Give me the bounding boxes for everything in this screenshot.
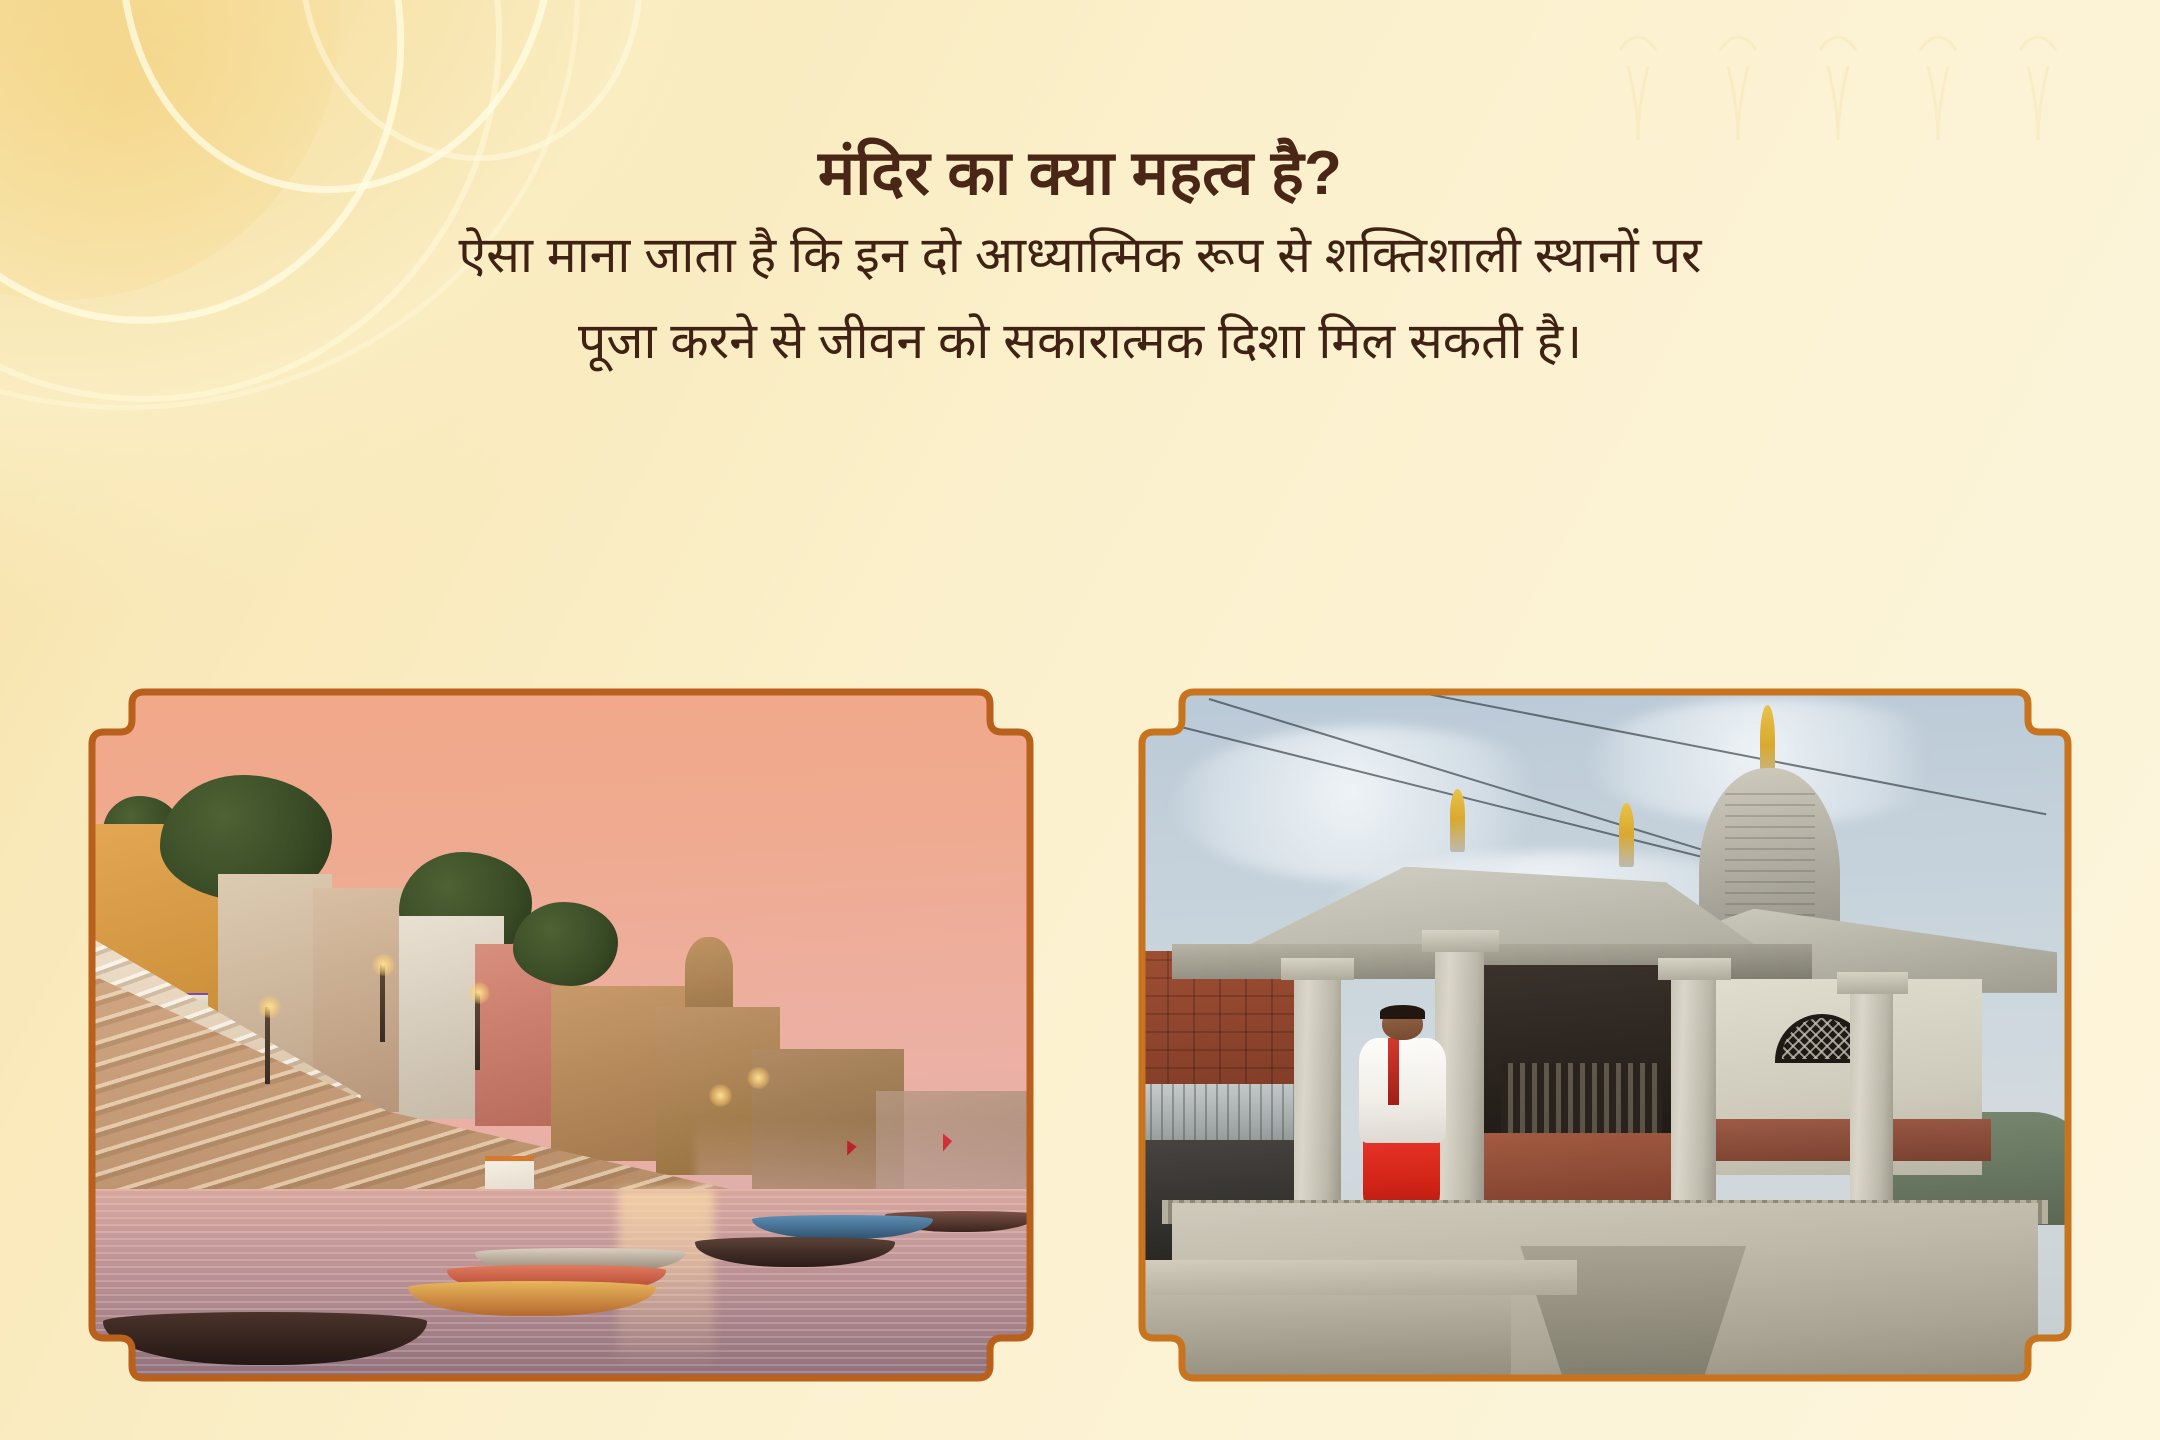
photo-frame-left bbox=[84, 684, 1038, 1386]
stone-temple-photo[interactable] bbox=[1134, 684, 2076, 1386]
poster-canvas: मंदिर का क्या महत्व है? ऐसा माना जाता है… bbox=[0, 0, 2160, 1440]
varanasi-ghats-photo[interactable] bbox=[84, 684, 1038, 1386]
ghat-photo-content bbox=[84, 684, 1038, 1386]
temple-photo-content bbox=[1134, 684, 2076, 1386]
body-text-line-2: पूजा करने से जीवन को सकारात्मक दिशा मिल … bbox=[120, 298, 2040, 384]
body-text: ऐसा माना जाता है कि इन दो आध्यात्मिक रूप… bbox=[120, 212, 2040, 384]
page-title: मंदिर का क्या महत्व है? bbox=[0, 138, 2160, 209]
photo-frame-right bbox=[1134, 684, 2076, 1386]
body-text-line-1: ऐसा माना जाता है कि इन दो आध्यात्मिक रूप… bbox=[120, 212, 2040, 298]
